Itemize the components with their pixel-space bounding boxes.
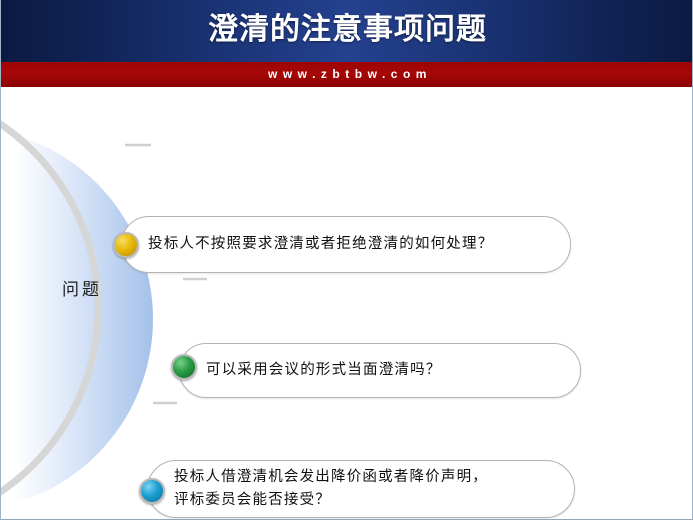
- question-bubble-2[interactable]: 可以采用会议的形式当面澄清吗？: [179, 343, 581, 398]
- question-bubble-3-text: 投标人借澄清机会发出降价函或者降价声明， 评标委员会能否接受？: [148, 466, 498, 512]
- blue-node-dot[interactable]: [139, 478, 165, 504]
- slide-canvas: 澄清的注意事项问题 www.zbtbw.com 问题: [0, 0, 693, 520]
- question-bubble-3[interactable]: 投标人借澄清机会发出降价函或者降价声明， 评标委员会能否接受？: [147, 460, 575, 518]
- question-bubble-1-text: 投标人不按照要求澄清或者拒绝澄清的如何处理？: [122, 232, 503, 257]
- site-url: www.zbtbw.com: [1, 62, 693, 87]
- question-bubble-2-text: 可以采用会议的形式当面澄清吗？: [180, 358, 452, 383]
- radial-diagram-graphic: [1, 87, 693, 520]
- page-title: 澄清的注意事项问题: [1, 0, 693, 62]
- slide-body: 问题 投标人不按照要求澄清或者拒绝澄清的如何处理？ 可以采用会议的形式当面澄清吗…: [1, 87, 693, 520]
- hub-semicircle: [1, 127, 153, 511]
- question-bubble-1[interactable]: 投标人不按照要求澄清或者拒绝澄清的如何处理？: [121, 216, 571, 273]
- gold-node-dot[interactable]: [113, 232, 139, 258]
- hub-label: 问题: [17, 275, 147, 300]
- green-node-dot[interactable]: [171, 354, 197, 380]
